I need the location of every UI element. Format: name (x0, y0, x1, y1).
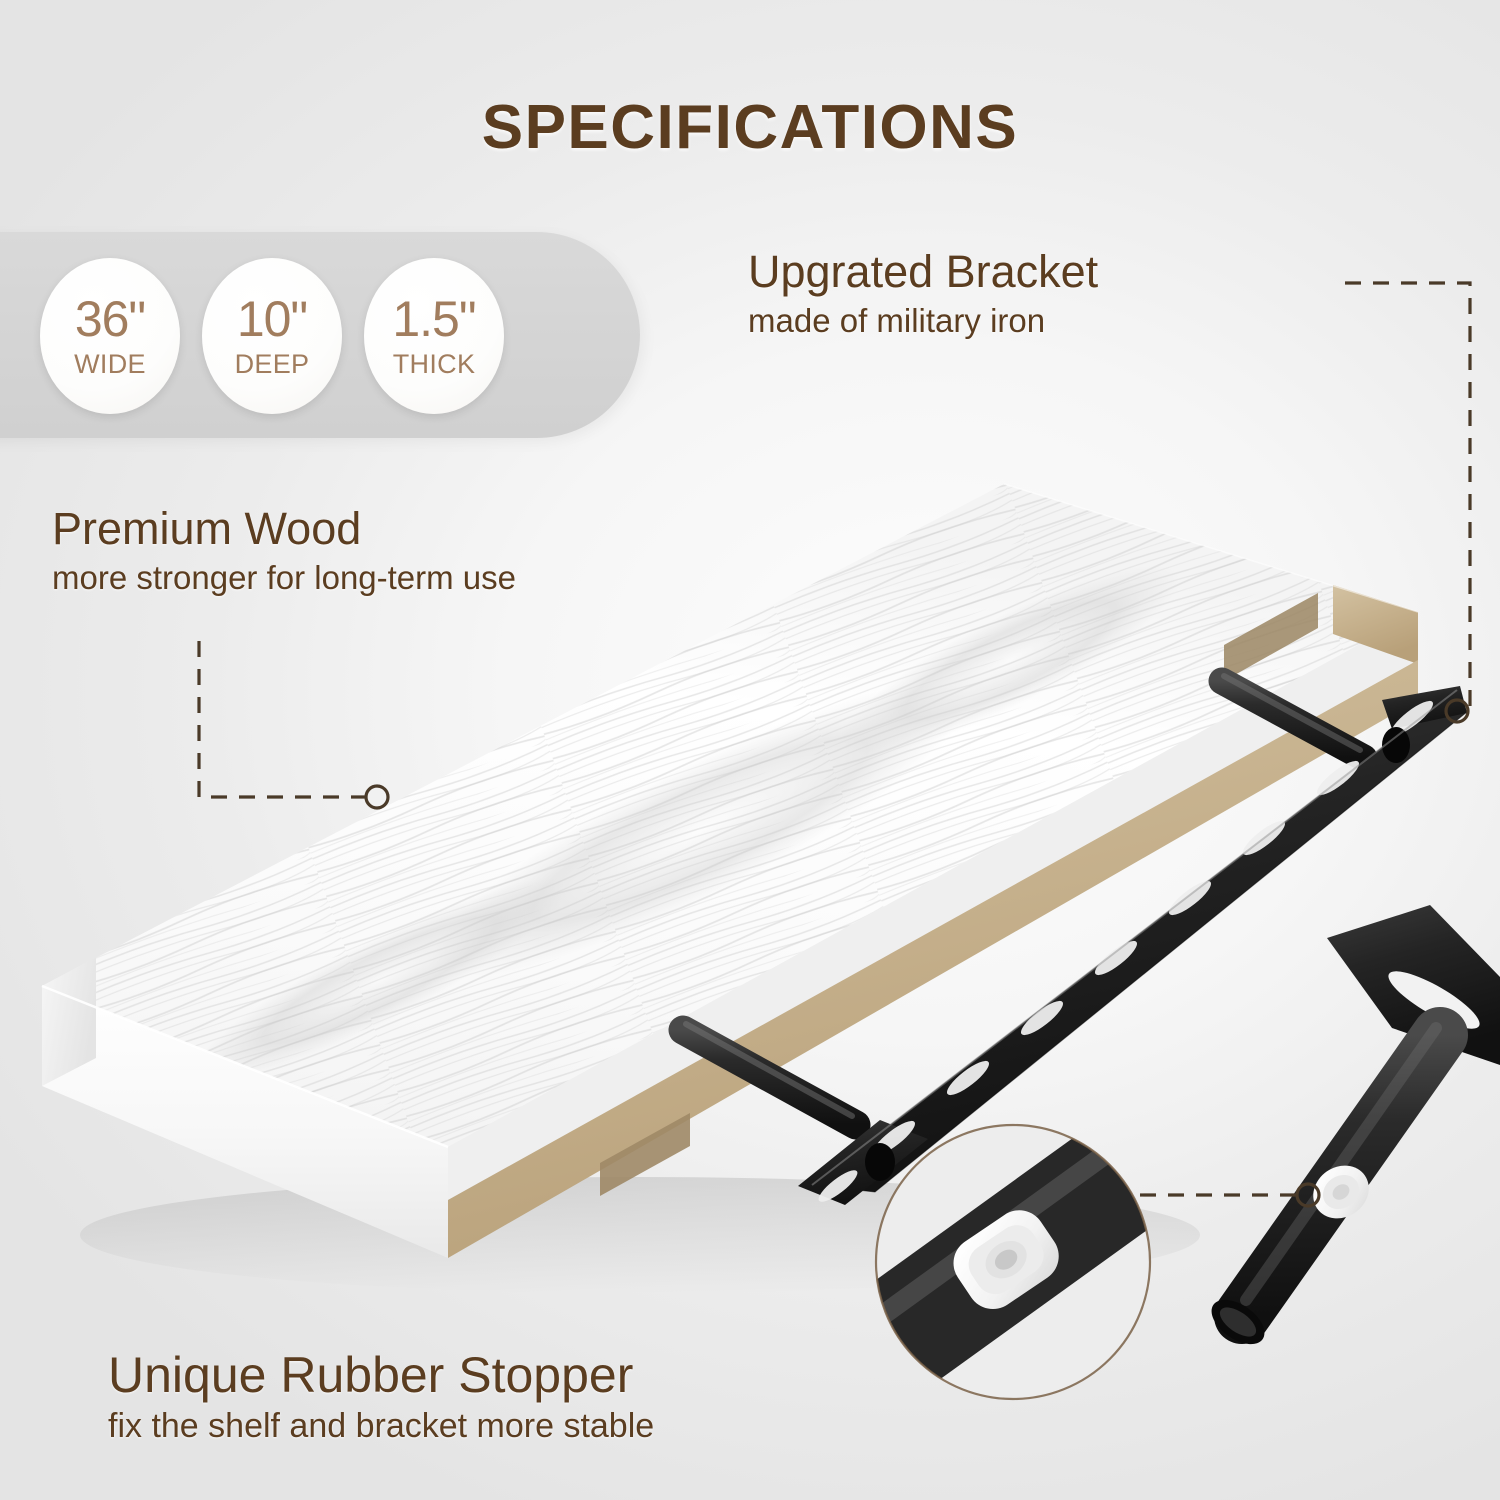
callout-bracket-subtitle: made of military iron (748, 301, 1098, 341)
callout-stopper-title: Unique Rubber Stopper (108, 1348, 654, 1402)
callout-upgraded-bracket: Upgrated Bracket made of military iron (748, 248, 1098, 340)
badge-width: 36" WIDE (40, 258, 180, 414)
badge-thickness-value: 1.5" (392, 294, 475, 344)
badge-depth-unit: DEEP (235, 351, 310, 378)
wall-bracket-detail (1204, 905, 1500, 1353)
callout-stopper-subtitle: fix the shelf and bracket more stable (108, 1406, 654, 1447)
badge-thickness: 1.5" THICK (364, 258, 504, 414)
product-illustration (0, 0, 1500, 1500)
badge-depth: 10" DEEP (202, 258, 342, 414)
callout-bracket-title: Upgrated Bracket (748, 248, 1098, 297)
page-title: SPECIFICATIONS (0, 92, 1500, 163)
badge-width-value: 36" (75, 294, 145, 344)
shelf-board (42, 484, 1418, 1258)
callout-premium-wood: Premium Wood more stronger for long-term… (52, 505, 516, 597)
badge-thickness-unit: THICK (393, 351, 476, 378)
specifications-page: SPECIFICATIONS 36" WIDE 10" DEEP 1.5" TH… (0, 0, 1500, 1500)
callout-wood-title: Premium Wood (52, 505, 516, 554)
badge-width-unit: WIDE (74, 351, 146, 378)
callout-rubber-stopper: Unique Rubber Stopper fix the shelf and … (108, 1348, 654, 1447)
badge-depth-value: 10" (237, 294, 307, 344)
callout-wood-subtitle: more stronger for long-term use (52, 558, 516, 598)
spec-badge-row: 36" WIDE 10" DEEP 1.5" THICK (40, 258, 504, 414)
